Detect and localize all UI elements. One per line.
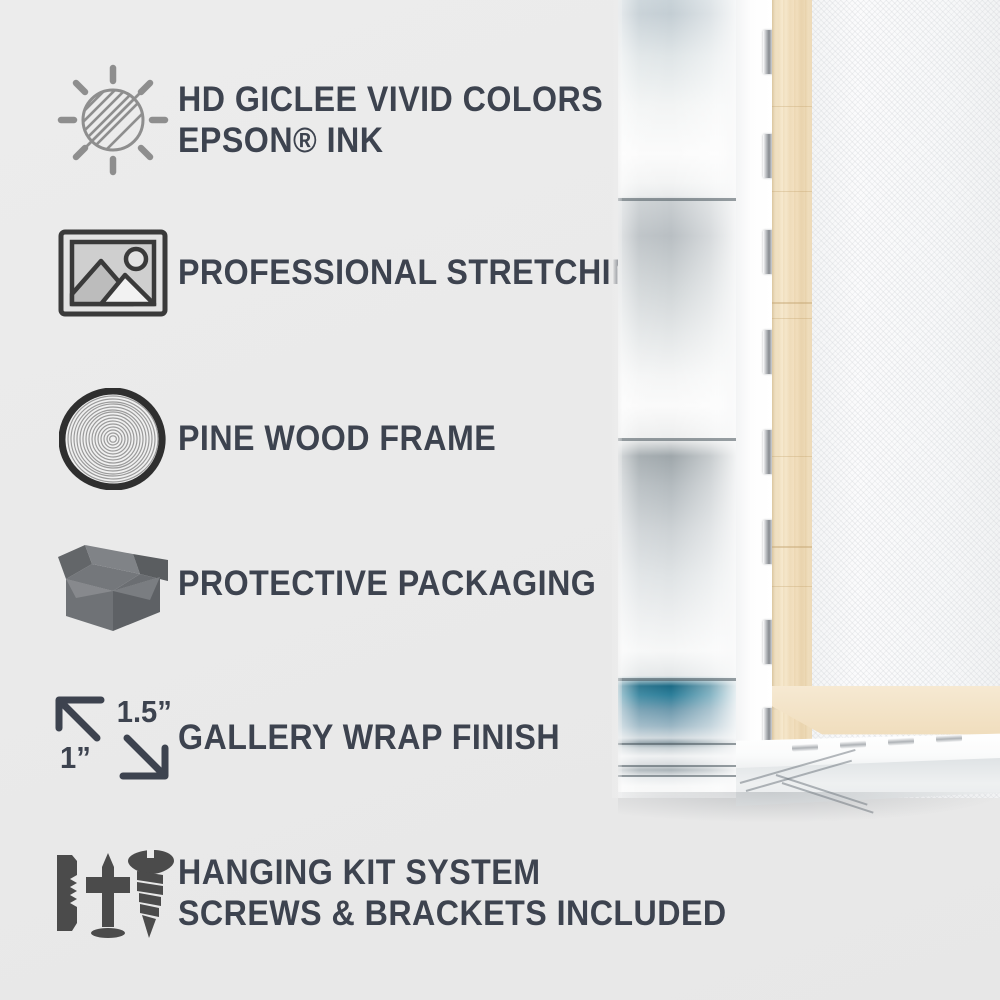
canvas-product-photo	[612, 0, 1000, 1000]
nail-shape	[86, 853, 130, 927]
tree-rings-icon-svg	[59, 388, 167, 490]
printed-wrap-edge	[618, 0, 736, 798]
wood-grain-line	[772, 191, 814, 192]
feature-item-professional-stretching: PROFESSIONAL STRETCHING	[48, 228, 702, 318]
wood-seam	[772, 546, 814, 548]
feature-label-line: GALLERY WRAP FINISH	[178, 717, 560, 758]
gallery-wrap-dimension-icon: 1.5” 1”	[48, 692, 178, 784]
staple	[840, 740, 866, 748]
framed-picture-icon	[48, 228, 178, 318]
canvas-back-surface	[812, 0, 1000, 798]
feature-item-hd-giclee: HD GICLEE VIVID COLORS EPSON® INK	[48, 62, 640, 178]
wood-grain-line	[772, 586, 814, 587]
feature-label-line: PROFESSIONAL STRETCHING	[178, 252, 660, 293]
feature-item-pine-wood-frame: PINE WOOD FRAME	[48, 388, 524, 490]
tree-rings-icon	[48, 388, 178, 490]
canvas-drop-shadow	[618, 792, 1000, 822]
staple	[792, 743, 818, 751]
photo-left-fade	[612, 0, 622, 798]
hanging-hardware-icon-svg	[50, 845, 176, 941]
pine-stretcher-bar	[772, 0, 814, 798]
feature-label-pine-wood-frame: PINE WOOD FRAME	[178, 418, 496, 459]
wood-seam	[772, 302, 814, 304]
feature-label-line: EPSON® INK	[178, 120, 603, 161]
feature-list: HD GICLEE VIVID COLORS EPSON® INK PROFES…	[0, 0, 620, 1000]
feature-label-protective-packaging: PROTECTIVE PACKAGING	[178, 563, 596, 604]
sun-print-icon-svg	[55, 62, 171, 178]
wood-grain-line	[772, 318, 814, 319]
wood-grain-line	[772, 456, 814, 457]
staple	[936, 734, 962, 742]
staple	[888, 737, 914, 745]
hanging-hardware-icon	[48, 845, 178, 941]
screw-shape	[128, 849, 174, 938]
feature-label-line: PROTECTIVE PACKAGING	[178, 563, 596, 604]
framed-picture-icon-svg	[57, 228, 169, 318]
feature-label-line: HD GICLEE VIVID COLORS	[178, 79, 603, 120]
feature-label-gallery-wrap-finish: GALLERY WRAP FINISH	[178, 717, 560, 758]
dimension-label-width: 1”	[60, 740, 91, 776]
open-box-icon	[48, 532, 178, 636]
feature-label-line: PINE WOOD FRAME	[178, 418, 496, 459]
feature-item-protective-packaging: PROTECTIVE PACKAGING	[48, 532, 633, 636]
dimension-label-depth: 1.5”	[117, 694, 172, 730]
feature-item-gallery-wrap-finish: 1.5” 1” GALLERY WRAP FINISH	[48, 692, 593, 784]
sun-print-icon	[48, 62, 178, 178]
wood-grain-line	[772, 106, 814, 107]
canvas-corner-closeup	[612, 0, 1000, 814]
feature-label-professional-stretching: PROFESSIONAL STRETCHING	[178, 252, 660, 293]
product-feature-infographic: HD GICLEE VIVID COLORS EPSON® INK PROFES…	[0, 0, 1000, 1000]
feature-label-hd-giclee: HD GICLEE VIVID COLORS EPSON® INK	[178, 79, 603, 162]
open-box-icon-svg	[52, 532, 174, 636]
bracket-shape	[57, 855, 77, 931]
